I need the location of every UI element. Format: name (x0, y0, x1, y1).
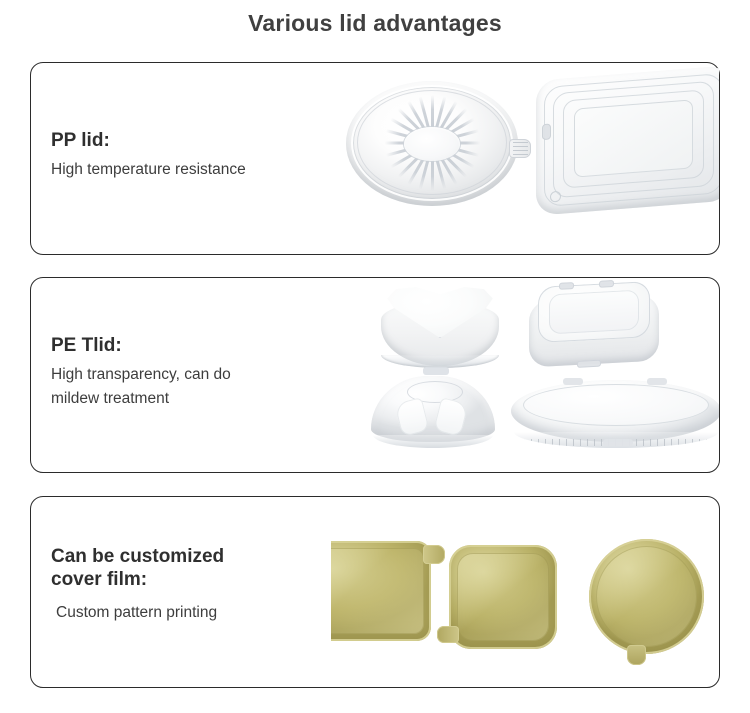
gold-square-inner-panel (457, 553, 549, 641)
dome-lid-skirt (373, 435, 493, 448)
page-title: Various lid advantages (0, 10, 750, 37)
oval-lid-nub-left (563, 378, 583, 385)
panel-cover-film-heading: Can be customized cover film: (51, 545, 331, 591)
gold-square-cover-film-image (449, 545, 557, 649)
panel-pe-tlid-description: High transparency, can do mildew treatme… (51, 363, 331, 411)
panel-pe-tlid-text: PE Tlid: High transparency, can do milde… (51, 334, 331, 411)
panel-pe-tlid-heading: PE Tlid: (51, 334, 331, 357)
round-pp-lid-image (346, 81, 518, 206)
oval-lid-nub-right (647, 378, 667, 385)
square-pet-lid-image (529, 281, 659, 376)
panel-pp-lid: PP lid: High temperature resistance (30, 62, 720, 255)
panel-cover-film-text: Can be customized cover film: Custom pat… (51, 545, 331, 625)
square-lid-nub-left (559, 282, 574, 290)
panel-cover-film-artwork (331, 497, 719, 687)
panel-cover-film: Can be customized cover film: Custom pat… (30, 496, 720, 688)
dome-pet-lid-image (371, 376, 495, 450)
square-lid-nub-front (577, 360, 601, 368)
round-lid-center-hub (404, 127, 460, 161)
gold-round-cover-film-image (589, 539, 704, 654)
gold-round-inner-panel (596, 546, 697, 647)
rectangular-pp-lid-image (536, 65, 719, 215)
panel-pp-lid-heading: PP lid: (51, 129, 331, 152)
gold-round-pull-tab (627, 645, 646, 665)
heart-lid-foot (423, 367, 449, 375)
gold-rect-inner-panel (331, 548, 424, 634)
heart-pet-lid-image (379, 286, 501, 372)
gold-rectangular-cover-film-image (331, 541, 431, 641)
square-lid-inner-panel (549, 290, 639, 335)
oval-lid-top (523, 384, 709, 426)
panel-cover-film-description: Custom pattern printing (51, 601, 331, 625)
round-lid-side-tab (509, 139, 531, 158)
oval-pet-lid-image (511, 380, 719, 452)
square-lid-nub-right (599, 280, 614, 288)
rect-lid-notch (542, 123, 551, 140)
gold-square-pull-tab (437, 626, 459, 643)
panel-pe-tlid-artwork (331, 278, 719, 472)
panel-pe-tlid: PE Tlid: High transparency, can do milde… (30, 277, 720, 473)
gold-rect-pull-tab (423, 545, 445, 564)
panel-pp-lid-text: PP lid: High temperature resistance (51, 129, 331, 182)
panel-pp-lid-artwork (331, 63, 719, 254)
panel-pp-lid-description: High temperature resistance (51, 158, 331, 182)
rect-lid-panel (574, 99, 693, 177)
oval-lid-nub-front (603, 439, 633, 446)
